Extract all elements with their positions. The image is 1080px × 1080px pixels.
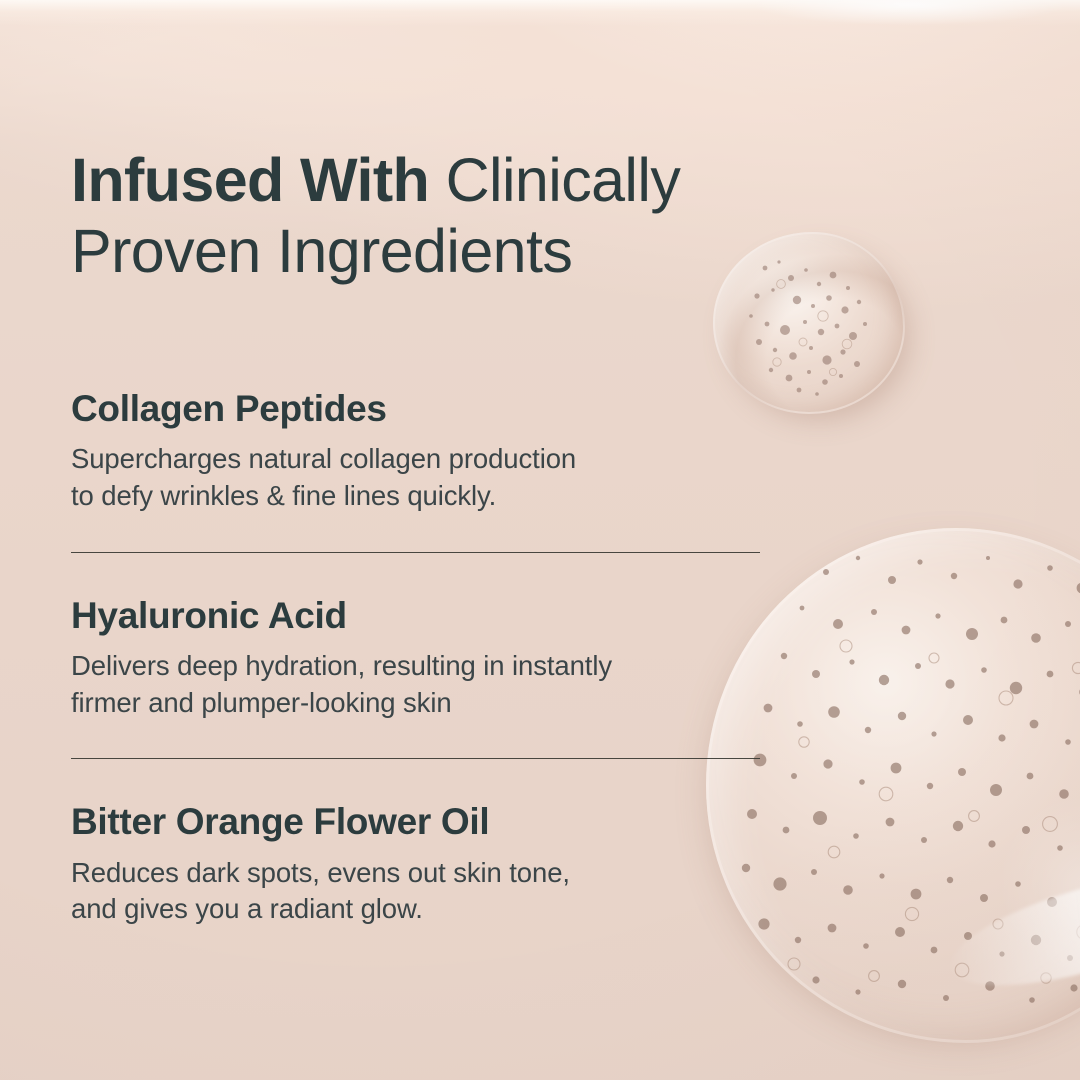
page-title: Infused With Clinically Proven Ingredien… [71, 145, 831, 287]
spacer [71, 553, 771, 595]
spacer [71, 759, 771, 801]
headline-bold: Infused With [71, 146, 446, 214]
ingredient-title: Collagen Peptides [71, 388, 771, 429]
ingredient-description: Delivers deep hydration, resulting in in… [71, 648, 771, 721]
spacer [71, 515, 771, 552]
promo-card: Infused With Clinically Proven Ingredien… [0, 0, 1080, 1080]
ingredient-list: Collagen Peptides Supercharges natural c… [71, 388, 771, 928]
list-item: Collagen Peptides Supercharges natural c… [71, 388, 771, 515]
spacer [71, 721, 771, 758]
list-item: Bitter Orange Flower Oil Reduces dark sp… [71, 801, 771, 928]
ingredient-title: Bitter Orange Flower Oil [71, 801, 771, 842]
content-layer: Infused With Clinically Proven Ingredien… [0, 0, 1080, 1080]
list-item: Hyaluronic Acid Delivers deep hydration,… [71, 595, 771, 722]
divider [71, 758, 760, 759]
divider [71, 552, 760, 553]
ingredient-title: Hyaluronic Acid [71, 595, 771, 636]
ingredient-description: Reduces dark spots, evens out skin tone,… [71, 855, 771, 928]
ingredient-description: Supercharges natural collagen production… [71, 441, 771, 514]
